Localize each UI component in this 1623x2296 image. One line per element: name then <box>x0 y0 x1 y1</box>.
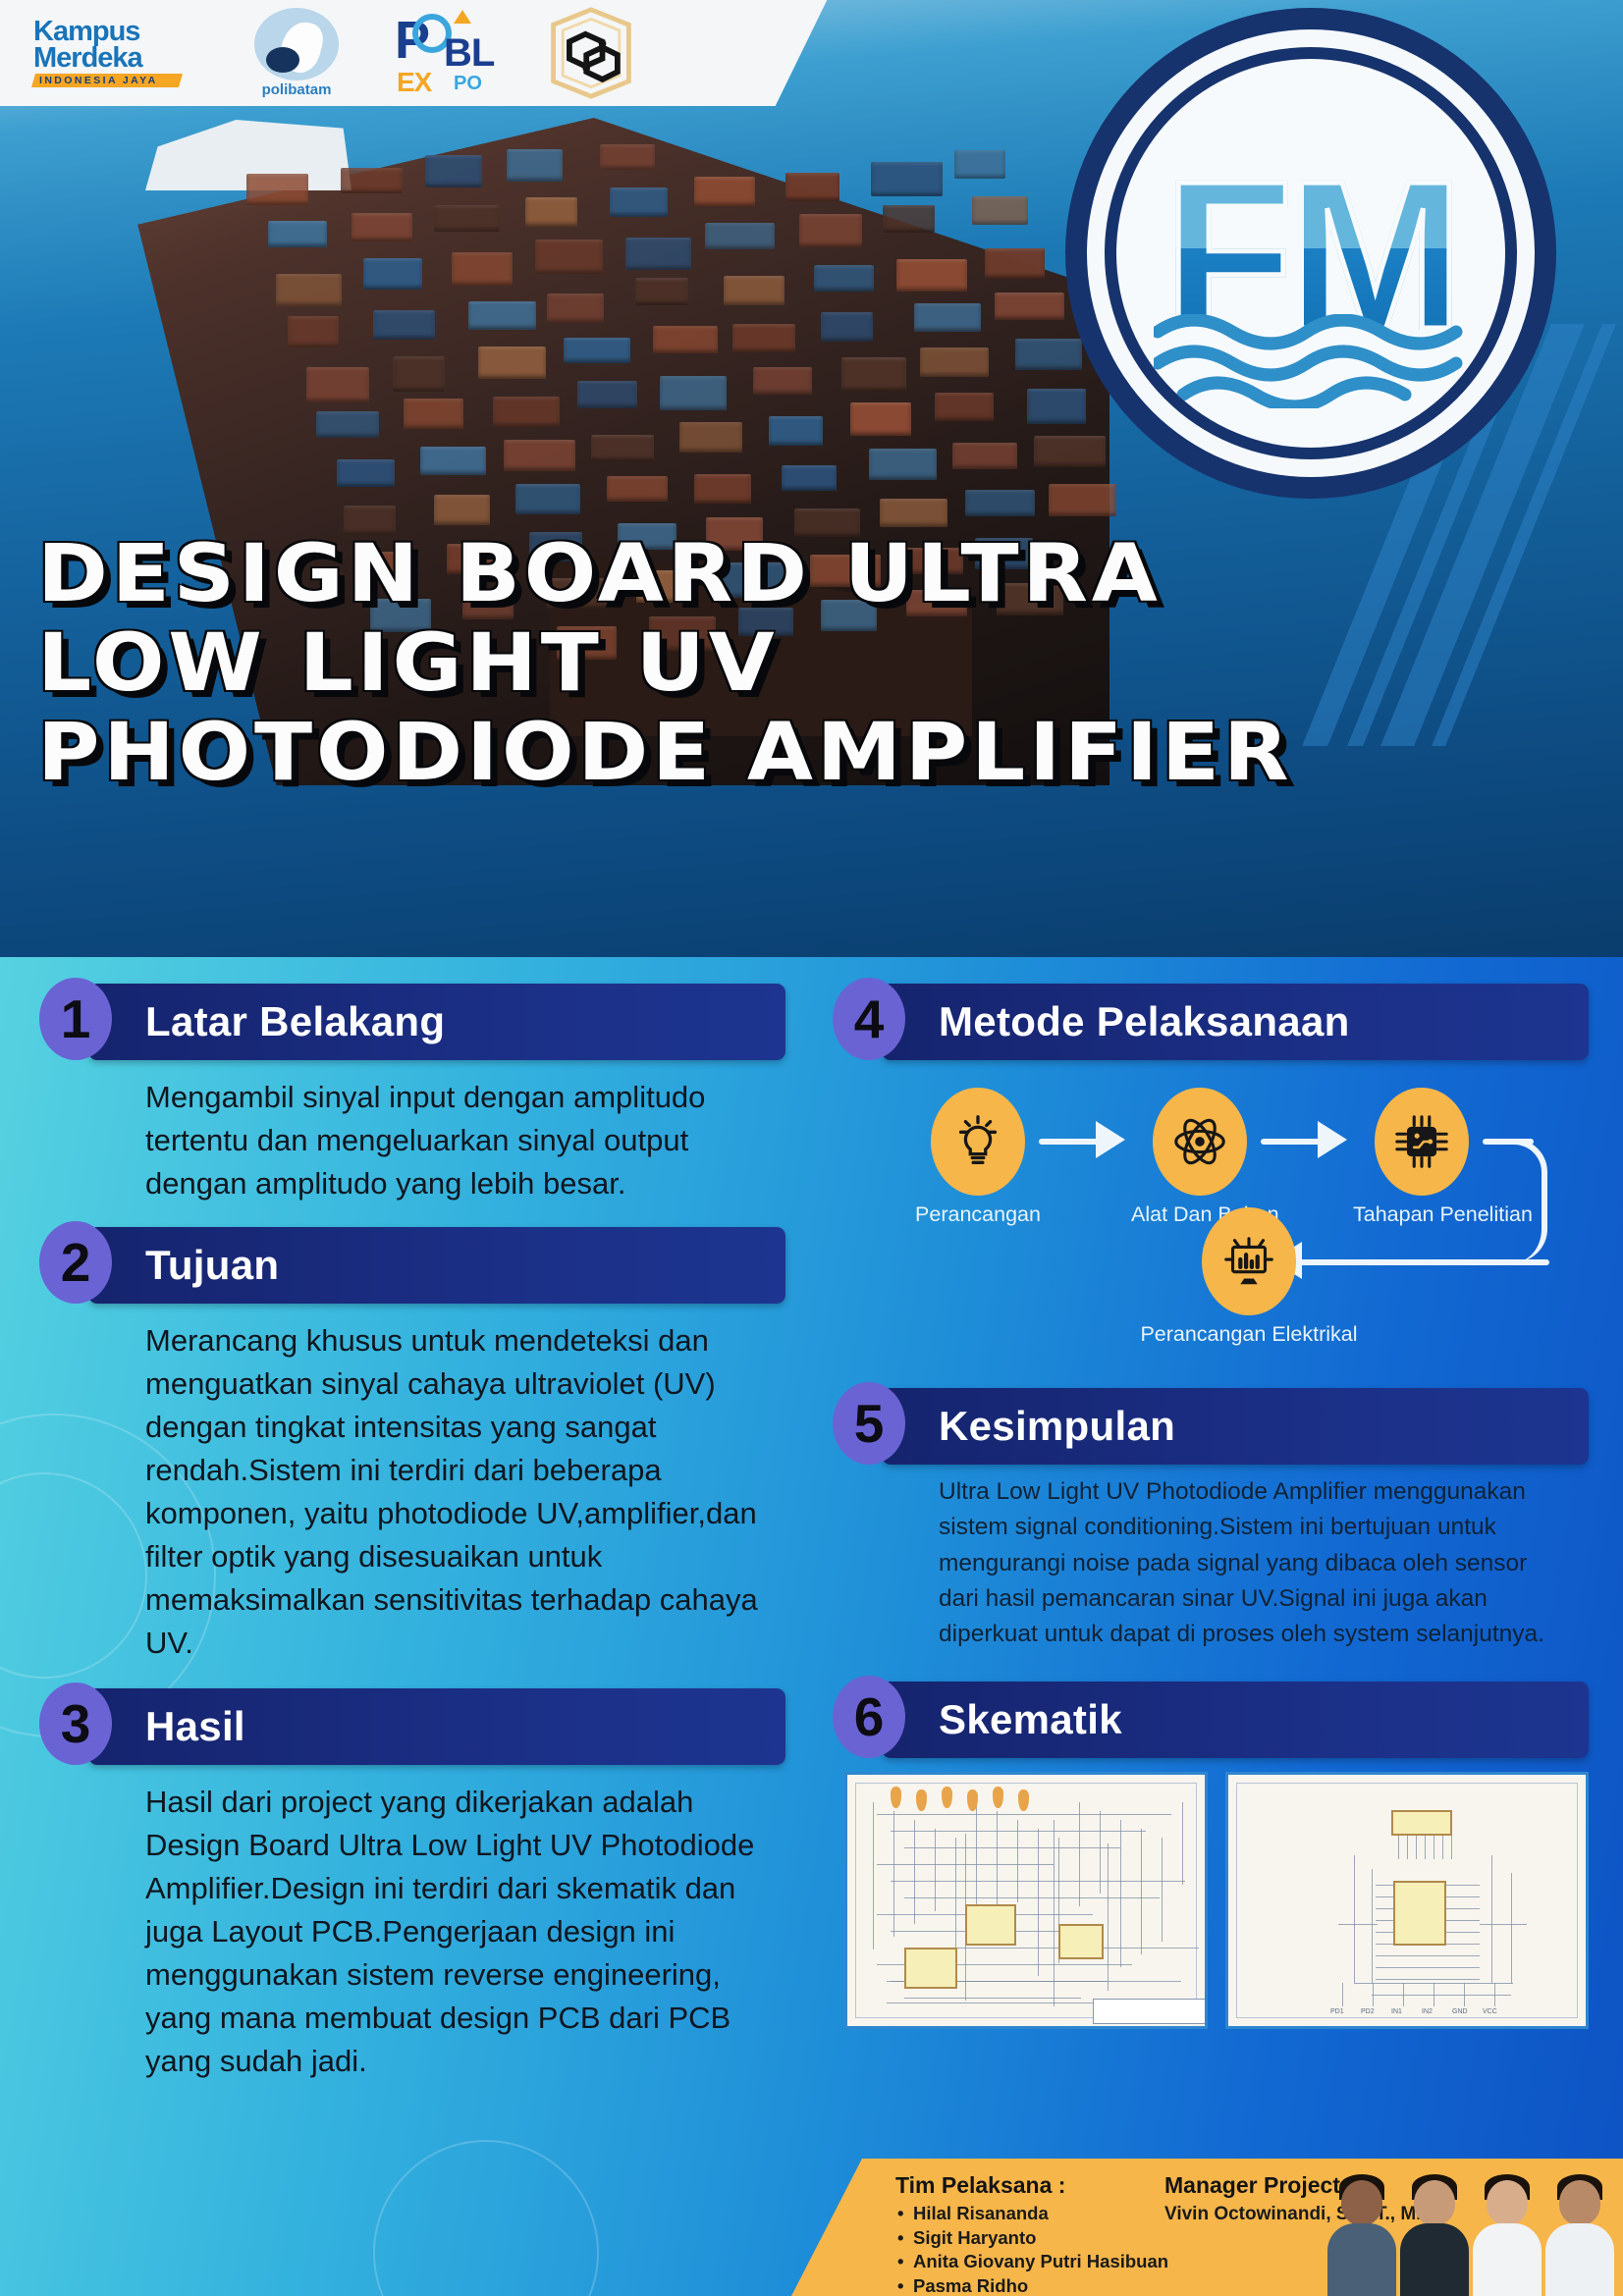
cargo-container <box>478 347 546 380</box>
lightbulb-icon <box>931 1088 1025 1196</box>
avatar <box>1326 2172 1397 2296</box>
schematic-wire <box>1407 1836 1408 1859</box>
schematic-wire <box>1372 1869 1373 1983</box>
cargo-container <box>880 499 947 527</box>
cargo-container <box>535 240 603 274</box>
team-member: Sigit Haryanto <box>895 2226 1168 2251</box>
schematic-ic <box>1391 1810 1452 1836</box>
cargo-container <box>504 440 575 471</box>
cargo-container <box>625 238 692 270</box>
section-tujuan: 2 Tujuan Merancang khusus untuk mendetek… <box>39 1227 785 1665</box>
section-body: Hasil dari project yang dikerjakan adala… <box>39 1765 785 2083</box>
title-line-2: LOW LIGHT UV <box>37 624 1292 703</box>
schematic-wire <box>1491 1855 1492 1983</box>
cargo-container <box>610 187 668 217</box>
cargo-container <box>732 324 795 352</box>
avatar <box>1399 2172 1470 2296</box>
section-header-bar: Skematik <box>882 1682 1589 1758</box>
cargo-container <box>965 490 1035 516</box>
schematic-wire <box>1054 1820 1055 2006</box>
schematic-wire <box>1416 1836 1417 1859</box>
cargo-container <box>434 205 499 232</box>
cargo-container <box>782 465 837 491</box>
section-header-bar: Latar Belakang <box>88 984 785 1060</box>
section-heading: Kesimpulan <box>939 1403 1175 1450</box>
logo-bar: Kampus Merdeka INDONESIA JAYA polibatam … <box>0 0 746 106</box>
section-number-badge: 6 <box>833 1676 905 1758</box>
schematic-wire <box>1434 1836 1434 1859</box>
schematic-ic <box>965 1904 1016 1946</box>
cargo-container <box>246 174 308 205</box>
cargo-container <box>972 196 1028 225</box>
section-heading: Hasil <box>145 1703 245 1750</box>
flow-label: Perancangan Elektrikal <box>1121 1322 1377 1347</box>
schematic-pin-label: PD1 <box>1330 2008 1344 2015</box>
schematic-pin-label: IN2 <box>1422 2008 1433 2015</box>
schematic-wire <box>891 1881 1185 1882</box>
team-block: Tim Pelaksana : Hilal RisanandaSigit Har… <box>895 2172 1168 2296</box>
schematic-wire <box>1338 1924 1378 1925</box>
cargo-container <box>935 393 994 420</box>
kampus-merdeka-logo: Kampus Merdeka INDONESIA JAYA <box>33 19 200 86</box>
schematic-wire <box>1464 1983 1465 2006</box>
schematic-pin-label: PD2 <box>1361 2008 1375 2015</box>
schematic-wire <box>1480 1924 1527 1925</box>
schematic-wire <box>891 1831 1146 1832</box>
schematic-wire <box>1141 1829 1142 1954</box>
schematic-wire <box>1511 1873 1512 1983</box>
schematic-wire <box>1376 1967 1480 1968</box>
section-skematik: 6 Skematik PD1PD2IN1IN2GNDVCC <box>833 1682 1589 2029</box>
flow-node-perancangan-elektrikal: Perancangan Elektrikal <box>1121 1207 1377 1347</box>
section-body: Ultra Low Light UV Photodiode Amplifier … <box>833 1465 1589 1652</box>
cargo-container <box>547 294 604 323</box>
section-number-badge: 1 <box>39 978 112 1060</box>
atom-icon <box>1153 1088 1247 1196</box>
cargo-container <box>841 357 906 392</box>
polibatam-logo: polibatam <box>234 8 359 98</box>
cargo-container <box>679 422 742 453</box>
hero-photo: FM <box>0 0 1623 957</box>
cargo-container <box>920 347 989 377</box>
section-latar-belakang: 1 Latar Belakang Mengambil sinyal input … <box>39 984 785 1205</box>
cargo-container <box>373 310 435 340</box>
schematic-wire <box>1079 1802 1080 1906</box>
flow-node-perancangan: Perancangan <box>909 1088 1047 1227</box>
cargo-container <box>705 223 774 250</box>
cargo-container <box>995 293 1063 320</box>
cargo-container <box>954 150 1006 179</box>
section-heading: Latar Belakang <box>145 998 445 1045</box>
left-column: 1 Latar Belakang Mengambil sinyal input … <box>39 984 785 2093</box>
schematic-wire <box>1398 1836 1399 1859</box>
section-number-badge: 5 <box>833 1382 905 1465</box>
cargo-container <box>404 399 463 429</box>
schematic-wire <box>1120 1820 1121 1967</box>
schematic-wire <box>1038 1829 1039 1976</box>
page-title: DESIGN BOARD ULTRA LOW LIGHT UV PHOTODIO… <box>37 535 1211 804</box>
cargo-container <box>468 301 535 330</box>
flow-node-tahapan: Tahapan Penelitian <box>1353 1088 1490 1227</box>
cargo-container <box>914 303 981 332</box>
cargo-container <box>985 248 1045 279</box>
fm-logo: FM <box>1065 8 1556 499</box>
cargo-container <box>420 447 487 475</box>
schematic-pin-label: VCC <box>1483 2008 1497 2015</box>
section-header-bar: Hasil <box>88 1688 785 1765</box>
cargo-container <box>591 435 654 461</box>
team-photos <box>1326 2172 1615 2296</box>
section-heading: Metode Pelaksanaan <box>939 998 1350 1045</box>
avatar <box>1472 2172 1542 2296</box>
cargo-container <box>276 274 342 306</box>
schematic-wire <box>1354 1855 1355 1983</box>
cargo-container <box>821 312 873 342</box>
schematic-wire <box>1182 1802 1183 1885</box>
schematic-wire <box>914 1820 915 1924</box>
team-heading: Tim Pelaksana : <box>895 2172 1168 2199</box>
footer-panel: Tim Pelaksana : Hilal RisanandaSigit Har… <box>791 2159 1623 2296</box>
cargo-container <box>515 484 581 514</box>
cargo-container <box>425 155 482 188</box>
schematic-wire <box>1376 1955 1480 1956</box>
cargo-container <box>352 213 412 240</box>
schematic-ic <box>1393 1881 1446 1946</box>
schematic-wire <box>1403 1983 1404 2006</box>
poster-root: FM Kampus Merdeka INDONESIA JAYA polibat… <box>0 0 1623 2296</box>
cargo-container <box>660 376 727 410</box>
avatar <box>1544 2172 1615 2296</box>
section-number-badge: 3 <box>39 1682 112 1765</box>
pbl-expo-logo: P BL EX PO <box>393 8 511 98</box>
cargo-container <box>769 416 823 446</box>
cargo-container <box>871 162 942 196</box>
cargo-container <box>635 278 688 305</box>
cargo-container <box>434 495 490 525</box>
cargo-container <box>753 367 812 395</box>
section-heading: Tujuan <box>145 1242 279 1289</box>
cargo-container <box>607 476 668 502</box>
section-number-badge: 4 <box>833 978 905 1060</box>
right-column: 4 Metode Pelaksanaan Perancangan <box>833 984 1589 2039</box>
schematic-wire <box>1434 1983 1434 2006</box>
section-header-bar: Metode Pelaksanaan <box>882 984 1589 1060</box>
schematic-pin-label: GND <box>1452 2008 1468 2015</box>
schematic-wire <box>1342 1983 1343 2006</box>
title-line-1: DESIGN BOARD ULTRA <box>37 535 1292 614</box>
schematic-wire <box>1442 1836 1443 1859</box>
cargo-container <box>694 177 755 206</box>
schematic-wire <box>1425 1836 1426 1859</box>
cargo-container <box>393 356 446 392</box>
cargo-container <box>785 173 839 201</box>
schematic-wire <box>1017 1820 1018 1902</box>
cargo-container <box>452 252 513 287</box>
schematic-wire <box>904 1897 1160 1898</box>
schematic-image-right: PD1PD2IN1IN2GNDVCC <box>1225 1772 1589 2029</box>
cargo-container <box>337 459 395 487</box>
schematic-wire <box>1451 1836 1452 1859</box>
cargo-container <box>799 214 862 247</box>
schematic-wire <box>1162 1838 1163 1942</box>
cargo-container <box>316 411 380 438</box>
cargo-container <box>896 259 967 292</box>
cargo-container <box>288 316 339 347</box>
section-body: Mengambil sinyal input dengan amplitudo … <box>39 1060 785 1205</box>
schematic-wire <box>904 1998 1081 1999</box>
flow-node-alat-bahan: Alat Dan Bahan <box>1131 1088 1269 1227</box>
schematic-wire <box>904 1847 1120 1848</box>
cargo-container <box>694 474 752 504</box>
schematic-wire <box>1376 1979 1480 1980</box>
cargo-container <box>883 205 935 234</box>
section-header-bar: Tujuan <box>88 1227 785 1304</box>
section-metode: 4 Metode Pelaksanaan Perancangan <box>833 984 1589 1378</box>
cargo-container <box>564 338 630 364</box>
section-number-badge: 2 <box>39 1221 112 1304</box>
schematic-image-left <box>844 1772 1208 2029</box>
hexagon-logo <box>544 6 638 100</box>
schematic-wire <box>935 1829 936 1911</box>
section-body: Merancang khusus untuk mendeteksi dan me… <box>39 1304 785 1665</box>
cargo-container <box>493 397 560 427</box>
section-hasil: 3 Hasil Hasil dari project yang dikerjak… <box>39 1688 785 2083</box>
schematic-pin-label: IN1 <box>1391 2008 1402 2015</box>
cargo-container <box>341 168 403 194</box>
team-member: Pasma Ridho <box>895 2274 1168 2296</box>
cargo-container <box>724 276 784 305</box>
section-header-bar: Kesimpulan <box>882 1388 1589 1465</box>
cargo-container <box>507 149 563 182</box>
schematic-wire <box>1108 1843 1109 1991</box>
schematic-wire <box>1373 1983 1374 2006</box>
bubble-decor <box>373 2140 599 2296</box>
team-list: Hilal RisanandaSigit HaryantoAnita Giova… <box>895 2202 1168 2296</box>
cargo-container <box>952 443 1017 469</box>
cargo-container <box>268 221 327 247</box>
cargo-container <box>363 258 422 290</box>
cargo-container <box>869 449 937 480</box>
cargo-container <box>850 402 911 437</box>
cargo-container <box>600 144 655 171</box>
wave-icon <box>1154 314 1468 408</box>
section-heading: Skematik <box>939 1696 1122 1743</box>
cargo-container <box>814 265 874 292</box>
schematic-wire <box>877 1814 1171 1815</box>
cargo-container <box>653 326 718 353</box>
schematic-wire <box>1372 1995 1511 1996</box>
schematic-wire <box>997 1811 998 1915</box>
flow-label: Perancangan <box>909 1202 1047 1227</box>
method-flow-diagram: Perancangan Alat Dan Bahan <box>909 1074 1557 1378</box>
schematic-ic <box>1058 1924 1104 1959</box>
team-member: Hilal Risananda <box>895 2202 1168 2226</box>
chip-icon <box>1375 1088 1469 1196</box>
team-member: Anita Giovany Putri Hasibuan <box>895 2250 1168 2274</box>
monitor-chart-icon <box>1202 1207 1296 1315</box>
cargo-container <box>525 197 577 227</box>
schematic-ic <box>904 1948 957 1989</box>
schematic-wire <box>1494 1983 1495 2006</box>
cargo-container <box>577 381 637 408</box>
schematic-gallery: PD1PD2IN1IN2GNDVCC <box>844 1772 1589 2029</box>
schematic-wire <box>873 1802 874 1949</box>
title-line-3: PHOTODIODE AMPLIFIER <box>37 714 1292 792</box>
cargo-container <box>306 367 369 402</box>
schematic-title-block <box>1093 1999 1208 2024</box>
section-kesimpulan: 5 Kesimpulan Ultra Low Light UV Photodio… <box>833 1388 1589 1652</box>
